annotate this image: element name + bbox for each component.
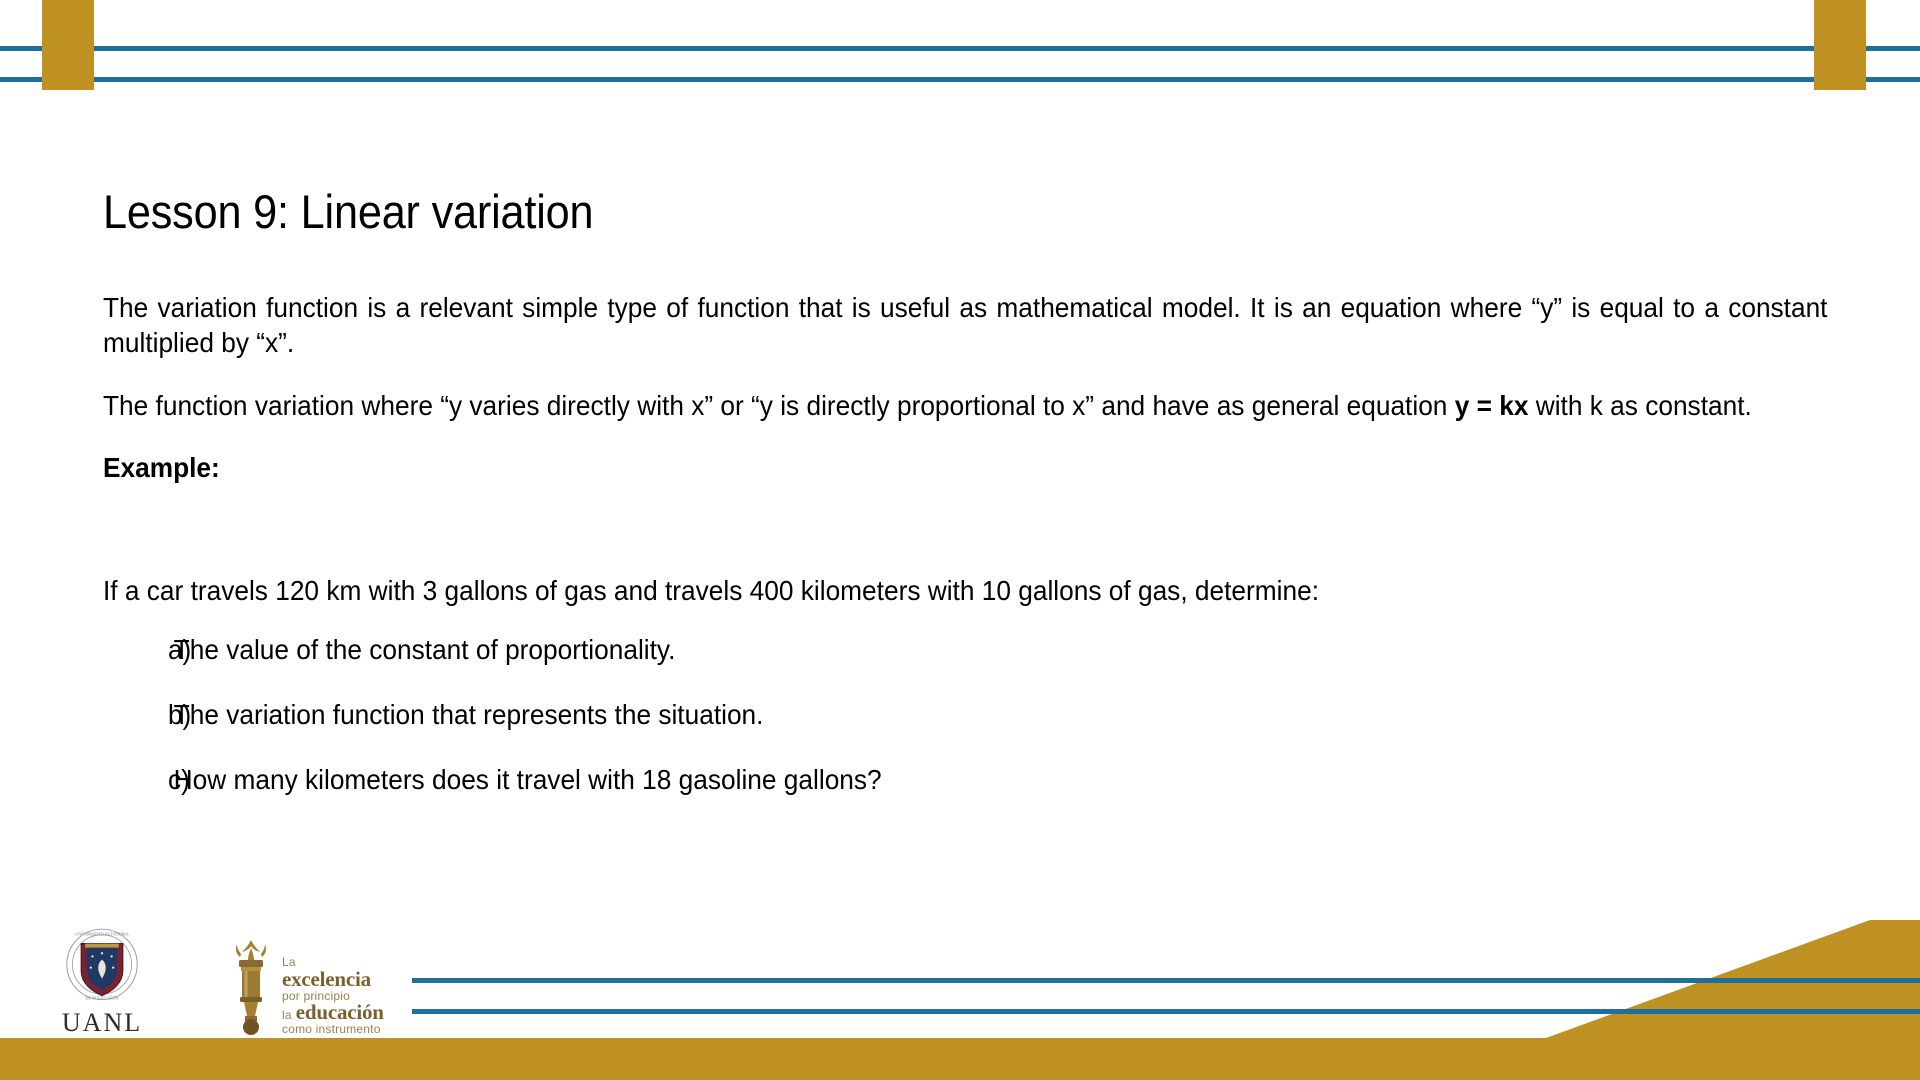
bottom-rule-lower [412,1009,1920,1014]
answers-list: a) The value of the constant of proporti… [103,632,1831,798]
top-decoration [0,0,1920,110]
excelencia-text: La excelencia por principio la educación… [282,956,384,1038]
slide-body: The variation function is a relevant sim… [103,290,1831,828]
example-prompt: If a car travels 120 km with 3 gallons o… [103,573,1753,608]
list-item-label: The variation function that represents t… [174,697,1754,732]
page-title: Lesson 9: Linear variation [103,186,593,238]
uanl-crest-icon: UNIVERSIDAD AUTÓNOMA DE NUEVO LEÓN [62,926,142,1006]
slide: Lesson 9: Linear variation The variation… [0,0,1920,1080]
top-rule-upper [0,46,1920,51]
list-item-marker: b) [103,697,174,732]
bottom-rule-upper [412,978,1920,983]
footer-logos: UNIVERSIDAD AUTÓNOMA DE NUEVO LEÓN UANL [54,928,384,1038]
campaign-line3-big: educación [296,1002,384,1023]
list-item: a) The value of the constant of proporti… [103,632,1753,667]
top-gold-tab-right [1814,0,1866,90]
top-rule-lower [0,77,1920,82]
example-label: Example: [103,450,1753,485]
svg-text:UNIVERSIDAD AUTÓNOMA: UNIVERSIDAD AUTÓNOMA [75,932,128,937]
uanl-logo: UNIVERSIDAD AUTÓNOMA DE NUEVO LEÓN UANL [54,926,150,1038]
svg-text:DE NUEVO LEÓN: DE NUEVO LEÓN [85,996,118,1001]
excelencia-logo: La excelencia por principio la educación… [228,938,384,1038]
list-item-marker: c) [103,762,174,797]
list-item-marker: a) [103,632,174,667]
paragraph-proportional-after: with k as constant. [1528,390,1751,421]
campaign-line1-big: excelencia [282,969,384,990]
top-gold-tab-left [42,0,94,90]
paragraph-definition: The variation function is a relevant sim… [103,290,1827,360]
list-item: b) The variation function that represent… [103,697,1753,732]
torch-icon [228,938,274,1038]
list-item-label: How many kilometers does it travel with … [174,762,1754,797]
paragraph-proportional-before: The function variation where “y varies d… [103,390,1455,421]
paragraph-proportional: The function variation where “y varies d… [103,388,1827,423]
general-equation: y = kx [1455,390,1529,421]
list-item: c) How many kilometers does it travel wi… [103,762,1753,797]
campaign-line3-small: la [282,1009,292,1022]
list-item-label: The value of the constant of proportiona… [174,632,1754,667]
campaign-line4-small: como instrumento [282,1023,384,1036]
uanl-wordmark: UANL [62,1008,142,1038]
